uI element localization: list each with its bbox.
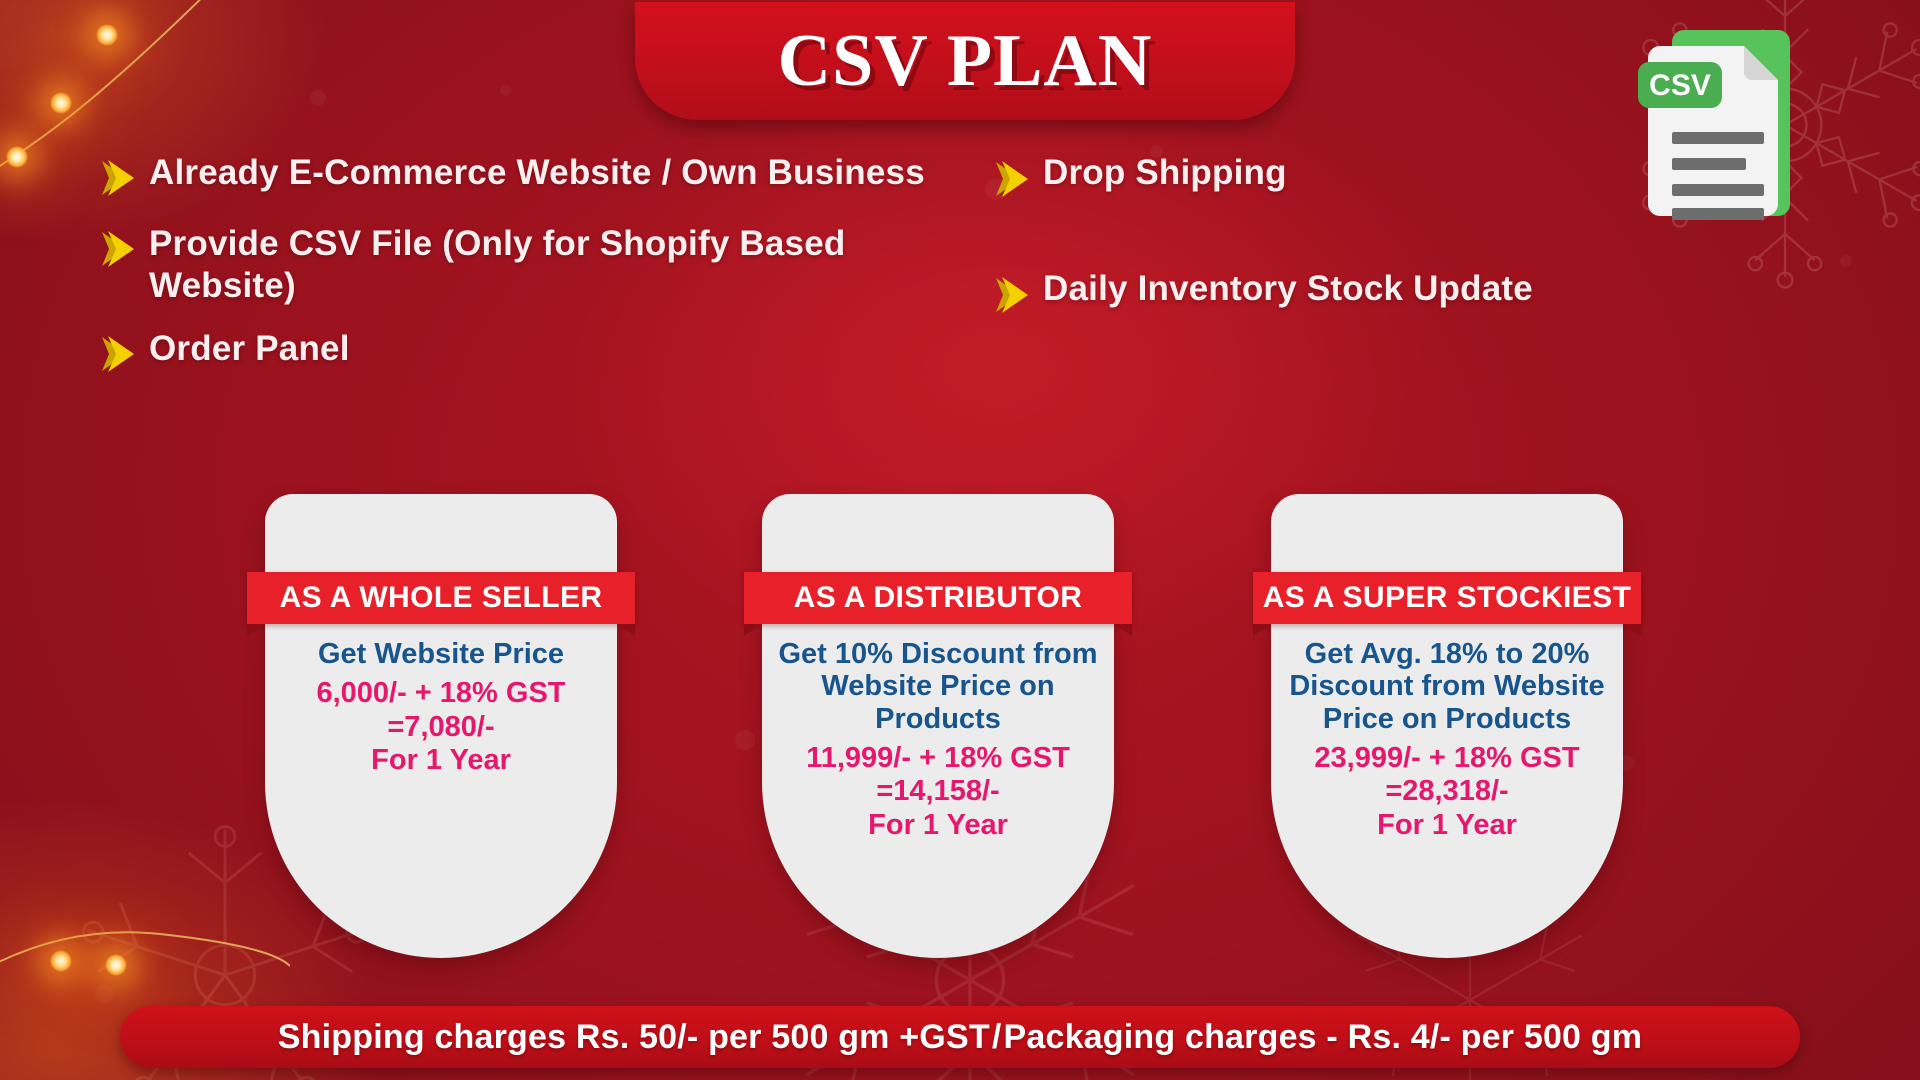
plan-price-line: =28,318/- <box>1283 775 1611 808</box>
plan-headline: Get 10% Discount from Website Price on P… <box>774 638 1102 735</box>
plan-price-line: =14,158/- <box>774 775 1102 808</box>
plan-price-line: 11,999/- + 18% GST <box>774 742 1102 775</box>
feature-label: Order Panel <box>149 328 350 370</box>
plan-headline: Get Website Price <box>277 638 605 670</box>
double-chevron-icon <box>96 226 142 272</box>
plan-price-line: For 1 Year <box>1283 809 1611 842</box>
feature-item: Order Panel <box>96 328 926 377</box>
feature-item: Drop Shipping <box>990 152 1730 202</box>
plan-ribbon: AS A DISTRIBUTOR <box>744 572 1132 624</box>
plan-price-line: 6,000/- + 18% GST <box>277 677 605 710</box>
plan-headline: Get Avg. 18% to 20% Discount from Websit… <box>1283 638 1611 735</box>
feature-item: Provide CSV File (Only for Shopify Based… <box>96 223 926 306</box>
plan-price-line: For 1 Year <box>774 809 1102 842</box>
feature-list-right: Drop Shipping Daily Inventory Stock Upda… <box>990 152 1730 384</box>
double-chevron-icon <box>96 155 142 201</box>
pricing-card-whole-seller[interactable]: AS A WHOLE SELLER Get Website Price 6,00… <box>265 494 617 958</box>
page-title: CSV PLAN <box>778 24 1153 98</box>
charges-banner: Shipping charges Rs. 50/- per 500 gm +GS… <box>120 1006 1800 1068</box>
plan-body: Get 10% Discount from Website Price on P… <box>762 638 1114 842</box>
plan-price-line: =7,080/- <box>277 711 605 744</box>
feature-item: Already E-Commerce Website / Own Busines… <box>96 152 926 201</box>
feature-label: Provide CSV File (Only for Shopify Based… <box>149 223 926 306</box>
feature-label: Already E-Commerce Website / Own Busines… <box>149 152 925 194</box>
feature-item: Daily Inventory Stock Update <box>990 268 1730 318</box>
plan-ribbon: AS A SUPER STOCKIEST <box>1253 572 1641 624</box>
charges-separator: / <box>990 1018 1004 1057</box>
bokeh-dot <box>310 90 326 106</box>
bokeh-dot <box>500 85 511 96</box>
page-title-banner: CSV PLAN <box>635 2 1295 120</box>
plan-ribbon-label: AS A SUPER STOCKIEST <box>1263 581 1632 615</box>
plan-ribbon-label: AS A DISTRIBUTOR <box>794 581 1083 615</box>
plan-body: Get Website Price 6,000/- + 18% GST =7,0… <box>265 638 617 777</box>
light-bulb <box>6 146 28 168</box>
csv-badge-label: CSV <box>1649 69 1711 102</box>
plan-body: Get Avg. 18% to 20% Discount from Websit… <box>1271 638 1623 842</box>
feature-label: Daily Inventory Stock Update <box>1043 268 1533 310</box>
light-bulb <box>50 92 72 114</box>
plan-ribbon-label: AS A WHOLE SELLER <box>280 581 603 615</box>
double-chevron-icon <box>990 272 1036 318</box>
plan-price-line: For 1 Year <box>277 744 605 777</box>
feature-list-left: Already E-Commerce Website / Own Busines… <box>96 152 926 399</box>
feature-label: Drop Shipping <box>1043 152 1287 194</box>
bokeh-dot <box>1840 255 1852 267</box>
bokeh-dot <box>95 985 113 1003</box>
packaging-charges-label: Packaging charges - Rs. 4/- per 500 gm <box>1003 1018 1642 1057</box>
pricing-card-super-stockiest[interactable]: AS A SUPER STOCKIEST Get Avg. 18% to 20%… <box>1271 494 1623 958</box>
double-chevron-icon <box>990 156 1036 202</box>
light-bulb <box>105 954 127 976</box>
double-chevron-icon <box>96 331 142 377</box>
pricing-card-distributor[interactable]: AS A DISTRIBUTOR Get 10% Discount from W… <box>762 494 1114 958</box>
light-bulb <box>50 950 72 972</box>
light-bulb <box>96 24 118 46</box>
poster-canvas: CSV PLAN CSV Already E-Commerce Website … <box>0 0 1920 1080</box>
shipping-charges-label: Shipping charges Rs. 50/- per 500 gm +GS… <box>278 1018 990 1057</box>
plan-ribbon: AS A WHOLE SELLER <box>247 572 635 624</box>
bokeh-dot <box>735 730 755 750</box>
plan-price-line: 23,999/- + 18% GST <box>1283 742 1611 775</box>
